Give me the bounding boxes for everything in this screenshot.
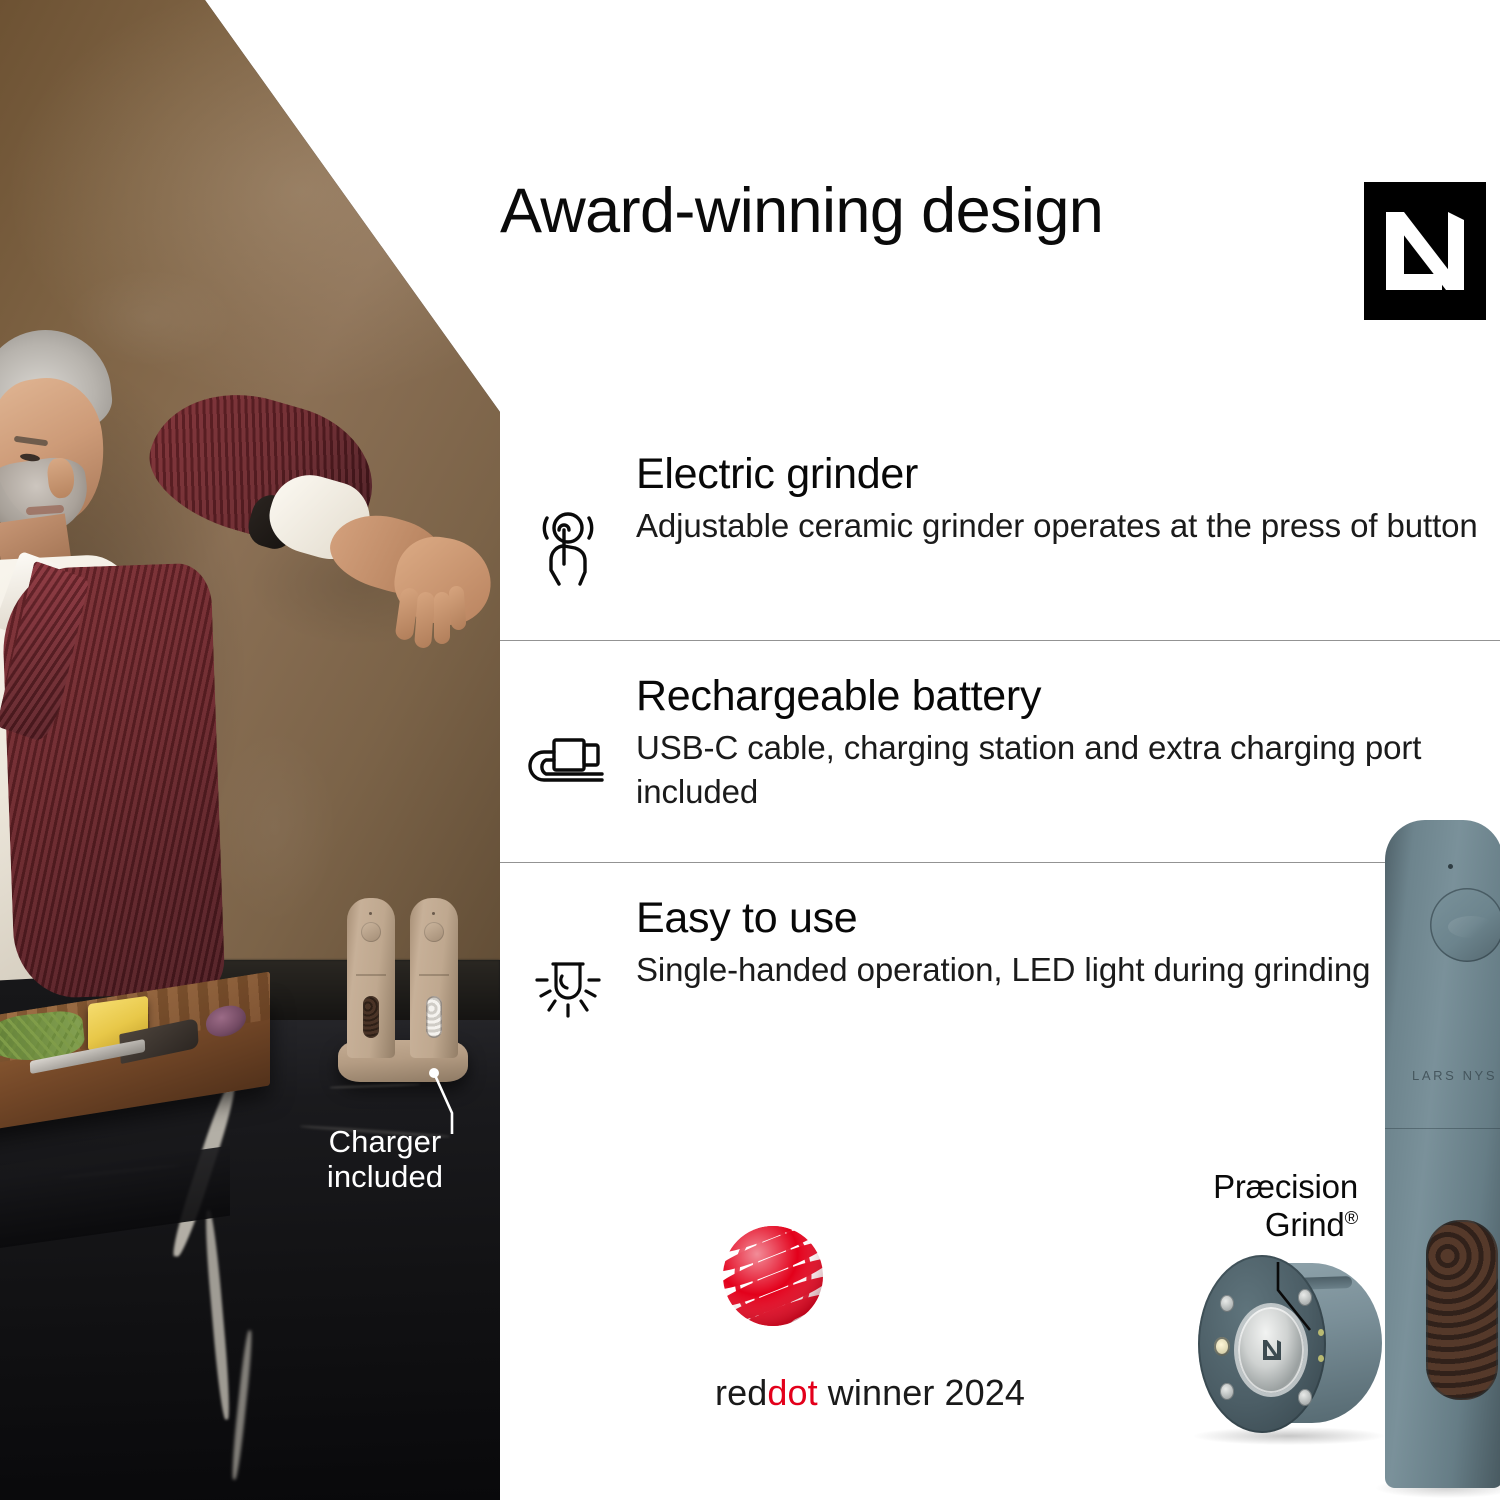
content-column: Award-winning design [500,0,1500,1500]
infographic-page: Charger included Award-winning design [0,0,1500,1500]
precision-grind-word: Grind [1265,1206,1345,1243]
precision-grind-callout: Præcision Grind® [1098,1168,1358,1245]
charger-callout-line2: included [270,1160,500,1195]
lifestyle-photo: Charger included [0,0,500,1500]
precision-callout-line1: Præcision [1098,1168,1358,1206]
charger-callout-line1: Charger [270,1125,500,1160]
charger-leader-line [0,0,500,1500]
charger-included-callout: Charger included [270,1125,500,1194]
precision-leader-line [500,0,1500,1500]
precision-callout-line2: Grind® [1098,1206,1358,1244]
trademark-symbol: ® [1345,1207,1358,1228]
